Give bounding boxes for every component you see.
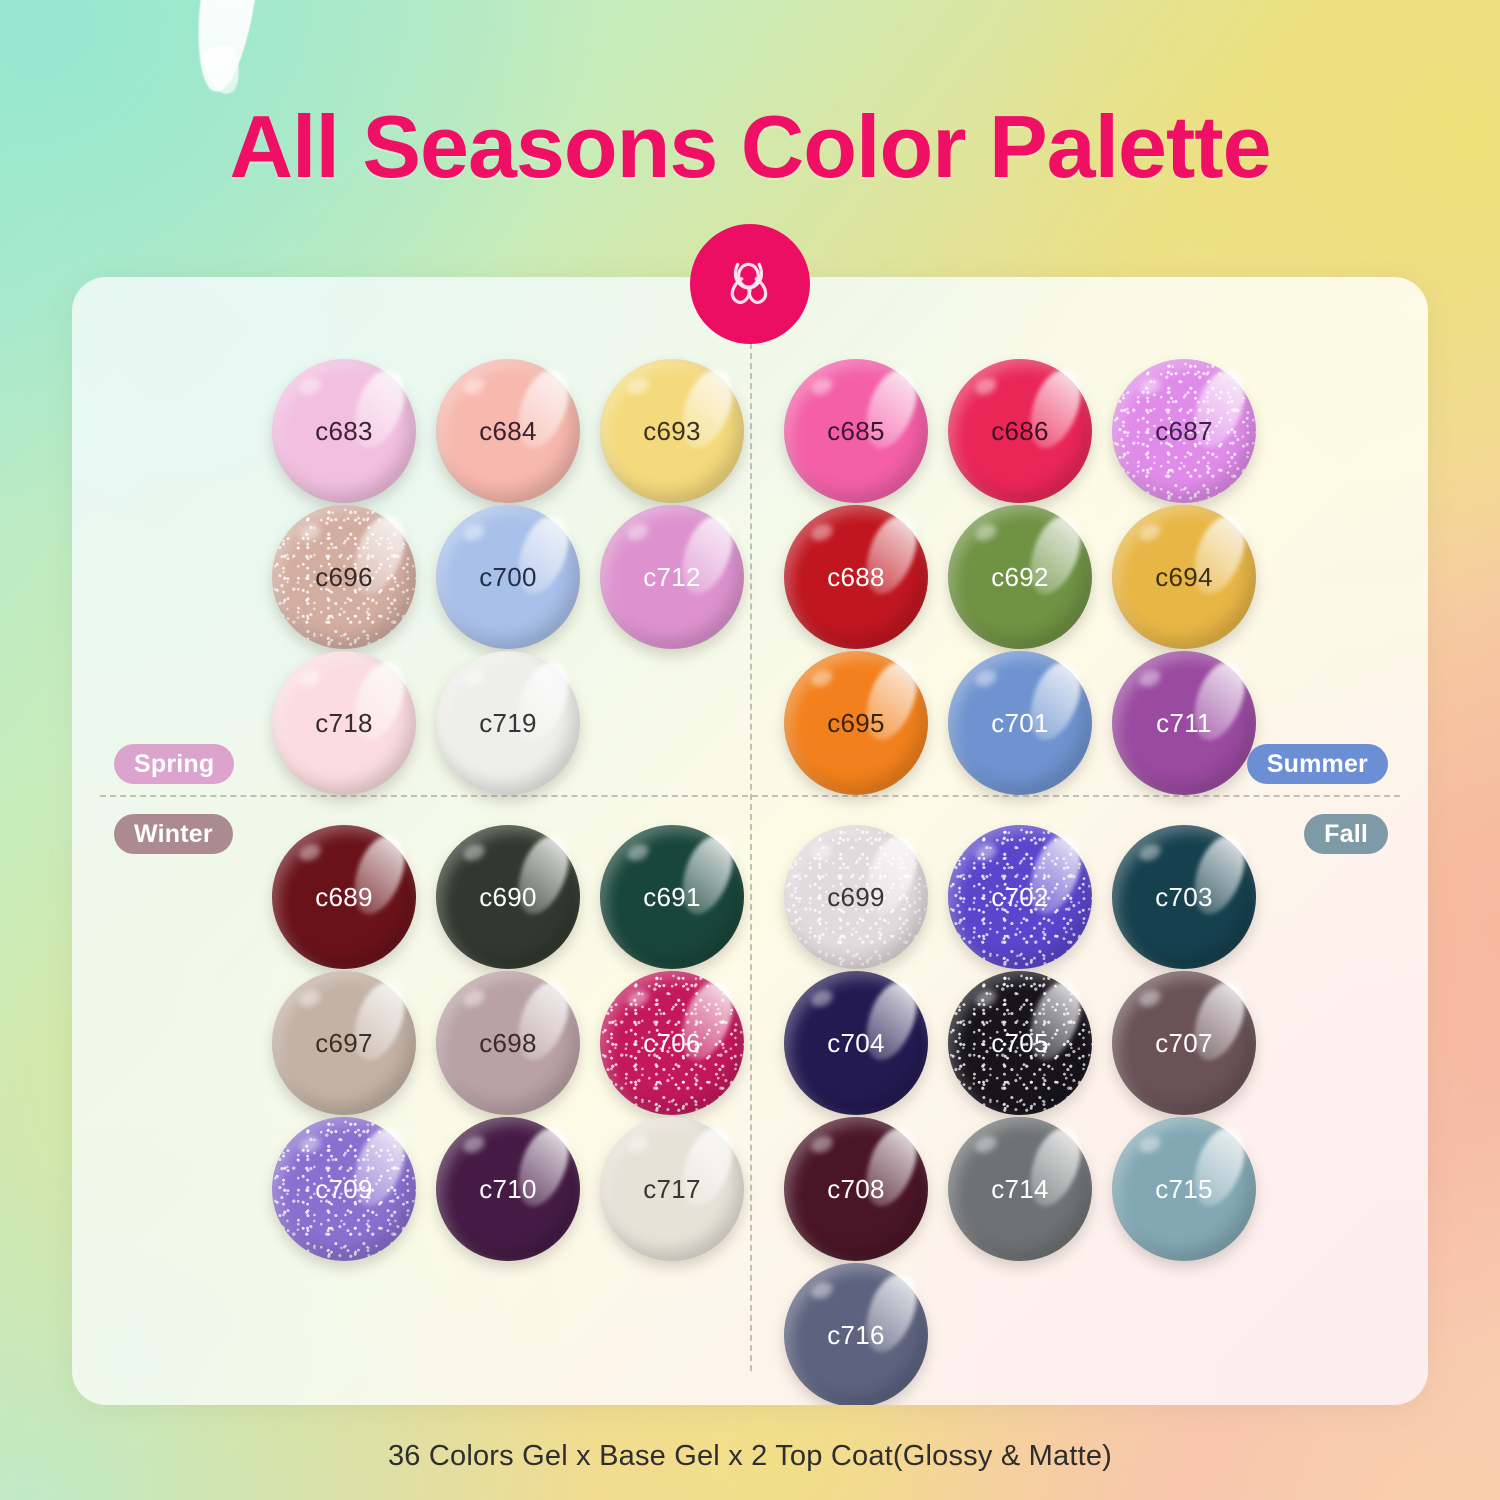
color-swatch-c716[interactable]: c716 [784,1263,928,1405]
swatch-code-label: c704 [827,1028,885,1059]
color-swatch-c700[interactable]: c700 [436,505,580,649]
color-swatch-c694[interactable]: c694 [1112,505,1256,649]
color-swatch-c690[interactable]: c690 [436,825,580,969]
swatch-code-label: c708 [827,1174,885,1205]
page-title: All Seasons Color Palette [0,96,1500,198]
color-swatch-c715[interactable]: c715 [1112,1117,1256,1261]
swatch-code-label: c698 [479,1028,537,1059]
swatch-code-label: c696 [315,562,373,593]
swatch-code-label: c719 [479,708,537,739]
swatch-code-label: c687 [1155,416,1213,447]
color-swatch-c691[interactable]: c691 [600,825,744,969]
color-swatch-c703[interactable]: c703 [1112,825,1256,969]
color-swatch-c714[interactable]: c714 [948,1117,1092,1261]
swatch-code-label: c691 [643,882,701,913]
swatch-code-label: c706 [643,1028,701,1059]
brand-logo-badge [690,224,810,344]
swatch-code-label: c686 [991,416,1049,447]
color-swatch-c704[interactable]: c704 [784,971,928,1115]
color-swatch-c702[interactable]: c702 [948,825,1092,969]
color-swatch-c718[interactable]: c718 [272,651,416,795]
swatch-code-label: c709 [315,1174,373,1205]
color-swatch-c711[interactable]: c711 [1112,651,1256,795]
color-swatch-c707[interactable]: c707 [1112,971,1256,1115]
color-swatch-c706[interactable]: c706 [600,971,744,1115]
color-swatch-c684[interactable]: c684 [436,359,580,503]
color-swatch-c705[interactable]: c705 [948,971,1092,1115]
color-swatch-c709[interactable]: c709 [272,1117,416,1261]
swatch-code-label: c688 [827,562,885,593]
interlocking-loops-logo-icon [717,251,783,317]
color-swatch-c717[interactable]: c717 [600,1117,744,1261]
color-swatch-c693[interactable]: c693 [600,359,744,503]
color-swatch-c692[interactable]: c692 [948,505,1092,649]
swatch-code-label: c712 [643,562,701,593]
poster-root: All Seasons Color Palette Spring Summer … [0,0,1500,1500]
season-badge-winter: Winter [114,814,233,854]
swatch-code-label: c703 [1155,882,1213,913]
swatch-code-label: c683 [315,416,373,447]
season-badge-summer: Summer [1247,744,1388,784]
color-swatch-c683[interactable]: c683 [272,359,416,503]
color-swatch-c685[interactable]: c685 [784,359,928,503]
color-swatch-c719[interactable]: c719 [436,651,580,795]
swatch-code-label: c717 [643,1174,701,1205]
season-badge-fall: Fall [1304,814,1388,854]
swatch-code-label: c689 [315,882,373,913]
swatch-code-label: c694 [1155,562,1213,593]
swatch-code-label: c718 [315,708,373,739]
swatch-code-label: c695 [827,708,885,739]
swatch-code-label: c711 [1156,708,1212,739]
swatch-code-label: c716 [827,1320,885,1351]
swatch-code-label: c693 [643,416,701,447]
divider-vertical [750,313,752,1371]
color-swatch-c697[interactable]: c697 [272,971,416,1115]
swatch-code-label: c699 [827,882,885,913]
color-swatch-c698[interactable]: c698 [436,971,580,1115]
footer-caption: 36 Colors Gel x Base Gel x 2 Top Coat(Gl… [0,1440,1500,1473]
swatch-code-label: c692 [991,562,1049,593]
color-swatch-c688[interactable]: c688 [784,505,928,649]
color-swatch-c699[interactable]: c699 [784,825,928,969]
swatch-code-label: c702 [991,882,1049,913]
color-swatch-c695[interactable]: c695 [784,651,928,795]
swatch-code-label: c710 [479,1174,537,1205]
swatch-code-label: c701 [991,708,1049,739]
color-swatch-c689[interactable]: c689 [272,825,416,969]
swatch-code-label: c715 [1155,1174,1213,1205]
color-swatch-c696[interactable]: c696 [272,505,416,649]
color-swatch-c701[interactable]: c701 [948,651,1092,795]
color-swatch-c687[interactable]: c687 [1112,359,1256,503]
season-badge-spring: Spring [114,744,234,784]
palette-panel: Spring Summer Winter Fall c683c684c693c6… [72,277,1428,1405]
swatch-code-label: c685 [827,416,885,447]
swatch-code-label: c700 [479,562,537,593]
swatch-code-label: c690 [479,882,537,913]
color-swatch-c708[interactable]: c708 [784,1117,928,1261]
swatch-code-label: c697 [315,1028,373,1059]
color-swatch-c710[interactable]: c710 [436,1117,580,1261]
color-swatch-c712[interactable]: c712 [600,505,744,649]
swatch-code-label: c707 [1155,1028,1213,1059]
swatch-code-label: c714 [991,1174,1049,1205]
color-swatch-c686[interactable]: c686 [948,359,1092,503]
swatch-code-label: c684 [479,416,537,447]
swatch-code-label: c705 [991,1028,1049,1059]
